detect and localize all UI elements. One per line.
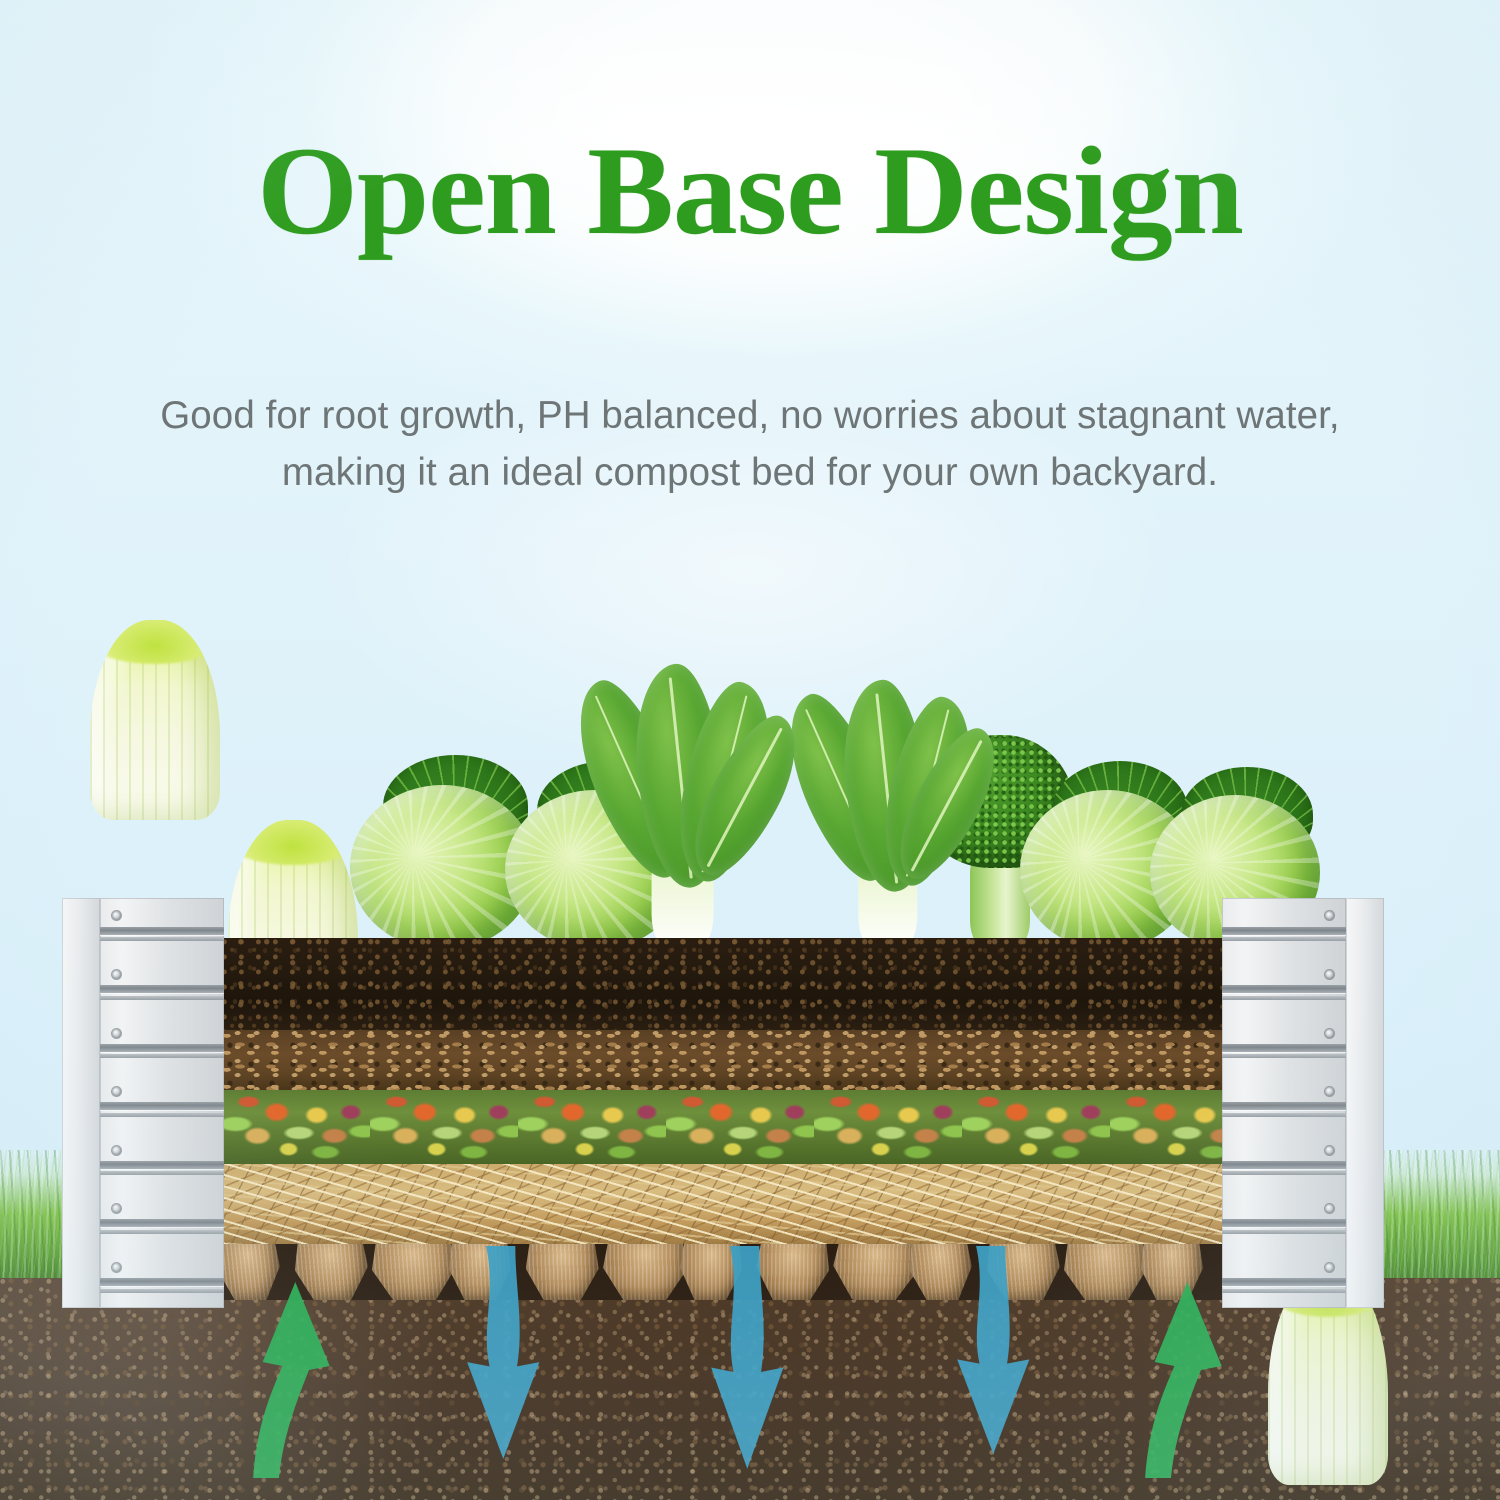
post-screw	[1325, 970, 1334, 979]
napa-cabbage-1	[90, 620, 220, 820]
post-slat-highlight	[100, 1230, 224, 1234]
post-slat	[1222, 1278, 1346, 1286]
post-screw	[112, 911, 121, 920]
post-slat	[1222, 1219, 1346, 1227]
post-slat	[100, 927, 224, 935]
post-slat	[1222, 1044, 1346, 1052]
left-corner-post	[62, 898, 224, 1308]
post-screw	[112, 1204, 121, 1213]
arrow-drain-1	[462, 1246, 548, 1461]
post-screw	[112, 1029, 121, 1038]
wood-log	[831, 1244, 919, 1300]
post-slat	[100, 1102, 224, 1110]
post-slat	[100, 1278, 224, 1286]
scene-stage: Open Base Design Good for root growth, P…	[0, 0, 1500, 1500]
post-screw	[112, 970, 121, 979]
page-title: Open Base Design	[0, 128, 1500, 257]
post-slat	[1222, 1161, 1346, 1169]
layer-straw	[222, 1164, 1222, 1244]
post-slat	[1222, 927, 1346, 935]
post-screw	[1325, 911, 1334, 920]
arrow-down-icon	[957, 1246, 1029, 1454]
right-corner-post	[1222, 898, 1384, 1308]
arrow-down-icon	[467, 1246, 539, 1459]
post-slat-highlight	[1222, 1171, 1346, 1175]
post-screw	[1325, 1263, 1334, 1272]
layer-kitchen-scraps	[222, 1090, 1222, 1164]
wood-log	[602, 1244, 687, 1300]
post-slat-highlight	[1222, 1054, 1346, 1058]
post-slat-highlight	[100, 937, 224, 941]
left-post-edge	[62, 898, 100, 1308]
post-slat	[100, 1044, 224, 1052]
post-screw	[1325, 1204, 1334, 1213]
post-screw	[1325, 1146, 1334, 1155]
post-slat-highlight	[1222, 1113, 1346, 1117]
arrow-up-icon	[253, 1282, 330, 1478]
post-slat-highlight	[100, 1171, 224, 1175]
post-screw	[1325, 1087, 1334, 1096]
wood-log	[371, 1244, 457, 1300]
wood-log	[1063, 1244, 1149, 1300]
post-slat-highlight	[100, 996, 224, 1000]
post-slat-highlight	[100, 1054, 224, 1058]
right-post-face	[1222, 898, 1346, 1308]
left-post-face	[100, 898, 224, 1308]
post-slat-highlight	[1222, 1289, 1346, 1293]
post-screw	[112, 1146, 121, 1155]
page-subtitle: Good for root growth, PH balanced, no wo…	[60, 388, 1440, 502]
post-slat-highlight	[1222, 1230, 1346, 1234]
post-slat-highlight	[1222, 996, 1346, 1000]
subtitle-line-2: making it an ideal compost bed for your …	[60, 445, 1440, 502]
arrow-up-icon	[1145, 1282, 1222, 1478]
post-slat	[1222, 985, 1346, 993]
post-screw	[1325, 1029, 1334, 1038]
subtitle-line-1: Good for root growth, PH balanced, no wo…	[60, 388, 1440, 445]
post-slat	[100, 1219, 224, 1227]
post-screw	[112, 1263, 121, 1272]
post-slat	[100, 1161, 224, 1169]
arrow-drain-2	[706, 1246, 792, 1471]
post-slat-highlight	[1222, 937, 1346, 941]
post-slat-highlight	[100, 1113, 224, 1117]
arrow-air-left	[248, 1278, 334, 1478]
post-slat	[1222, 1102, 1346, 1110]
arrow-air-right	[1140, 1278, 1226, 1478]
arrow-drain-3	[952, 1246, 1038, 1456]
post-slat	[100, 985, 224, 993]
layer-compost-soil	[222, 938, 1222, 1030]
layer-mulch	[222, 1030, 1222, 1090]
arrow-down-icon	[711, 1246, 783, 1469]
right-post-edge	[1346, 898, 1384, 1308]
post-screw	[112, 1087, 121, 1096]
bok-choy-1	[590, 670, 775, 950]
post-slat-highlight	[100, 1289, 224, 1293]
